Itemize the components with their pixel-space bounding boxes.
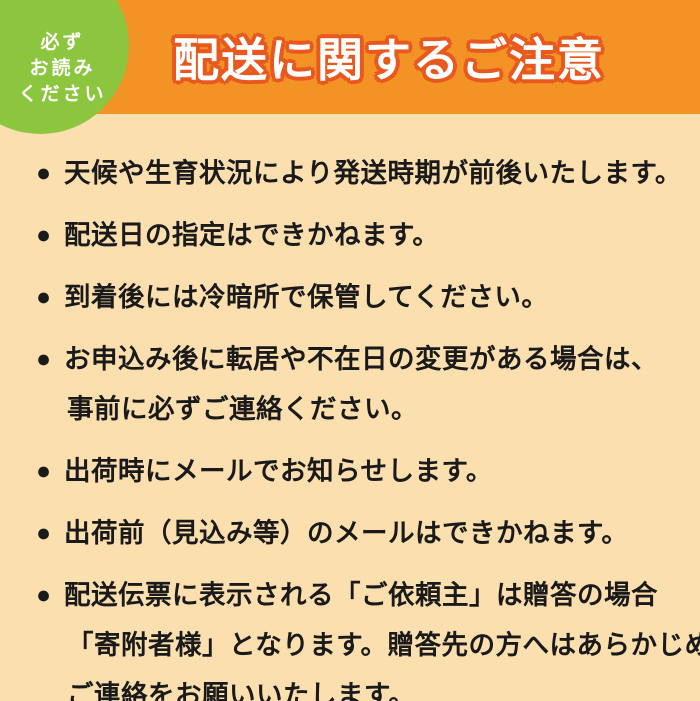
notice-line-primary: ●配送伝票に表示される「ご依頼主」は贈答の場合 [0, 570, 700, 620]
must-read-badge-line-1: 必ず [40, 33, 84, 53]
notice-text: 事前に必ずご連絡ください。 [64, 384, 700, 434]
notice-text: 出荷前（見込み等）のメールはできかねます。 [64, 508, 700, 558]
notice-line-primary: ●出荷前（見込み等）のメールはできかねます。 [0, 508, 700, 558]
shipping-notice-poster: 配送に関するご注意 必ず お読み ください ●天候や生育状況により発送時期が前後… [0, 0, 700, 701]
notice-text: 配送日の指定はできかねます。 [64, 210, 700, 260]
must-read-badge-line-2: お読み [29, 59, 95, 79]
notice-line-continuation: ●「寄附者様」となります。贈答先の方へはあらかじめ [0, 620, 700, 670]
bullet-icon: ● [36, 570, 64, 620]
notice-text: 天候や生育状況により発送時期が前後いたします。 [64, 148, 700, 198]
notice-item: ●出荷時にメールでお知らせします。 [0, 446, 700, 496]
notice-item: ●天候や生育状況により発送時期が前後いたします。 [0, 148, 700, 198]
notice-text: 出荷時にメールでお知らせします。 [64, 446, 700, 496]
notice-item: ●到着後には冷暗所で保管してください。 [0, 272, 700, 322]
bullet-icon: ● [36, 148, 64, 198]
bullet-icon: ● [36, 272, 64, 322]
notice-line-primary: ●出荷時にメールでお知らせします。 [0, 446, 700, 496]
notice-line-primary: ●配送日の指定はできかねます。 [0, 210, 700, 260]
bullet-icon: ● [36, 446, 64, 496]
notice-text: お申込み後に転居や不在日の変更がある場合は、 [64, 334, 700, 384]
notice-text: ご連絡をお願いいたします。 [64, 670, 700, 701]
notice-line-continuation: ●事前に必ずご連絡ください。 [0, 384, 700, 434]
notice-line-primary: ●お申込み後に転居や不在日の変更がある場合は、 [0, 334, 700, 384]
notice-item: ●配送日の指定はできかねます。 [0, 210, 700, 260]
notice-item: ●配送伝票に表示される「ご依頼主」は贈答の場合●「寄附者様」となります。贈答先の… [0, 570, 700, 701]
notice-text: 「寄附者様」となります。贈答先の方へはあらかじめ [64, 620, 700, 670]
notice-item: ●出荷前（見込み等）のメールはできかねます。 [0, 508, 700, 558]
bullet-icon: ● [36, 210, 64, 260]
must-read-badge-line-3: ください [18, 85, 106, 105]
notice-line-primary: ●天候や生育状況により発送時期が前後いたします。 [0, 148, 700, 198]
notice-line-continuation: ●ご連絡をお願いいたします。 [0, 670, 700, 701]
bullet-icon: ● [36, 508, 64, 558]
notice-list: ●天候や生育状況により発送時期が前後いたします。●配送日の指定はできかねます。●… [0, 148, 700, 701]
must-read-badge-text: 必ず お読み ください [18, 33, 106, 105]
notice-item: ●お申込み後に転居や不在日の変更がある場合は、●事前に必ずご連絡ください。 [0, 334, 700, 434]
notice-line-primary: ●到着後には冷暗所で保管してください。 [0, 272, 700, 322]
bullet-icon: ● [36, 334, 64, 384]
notice-text: 到着後には冷暗所で保管してください。 [64, 272, 700, 322]
notice-text: 配送伝票に表示される「ご依頼主」は贈答の場合 [64, 570, 700, 620]
